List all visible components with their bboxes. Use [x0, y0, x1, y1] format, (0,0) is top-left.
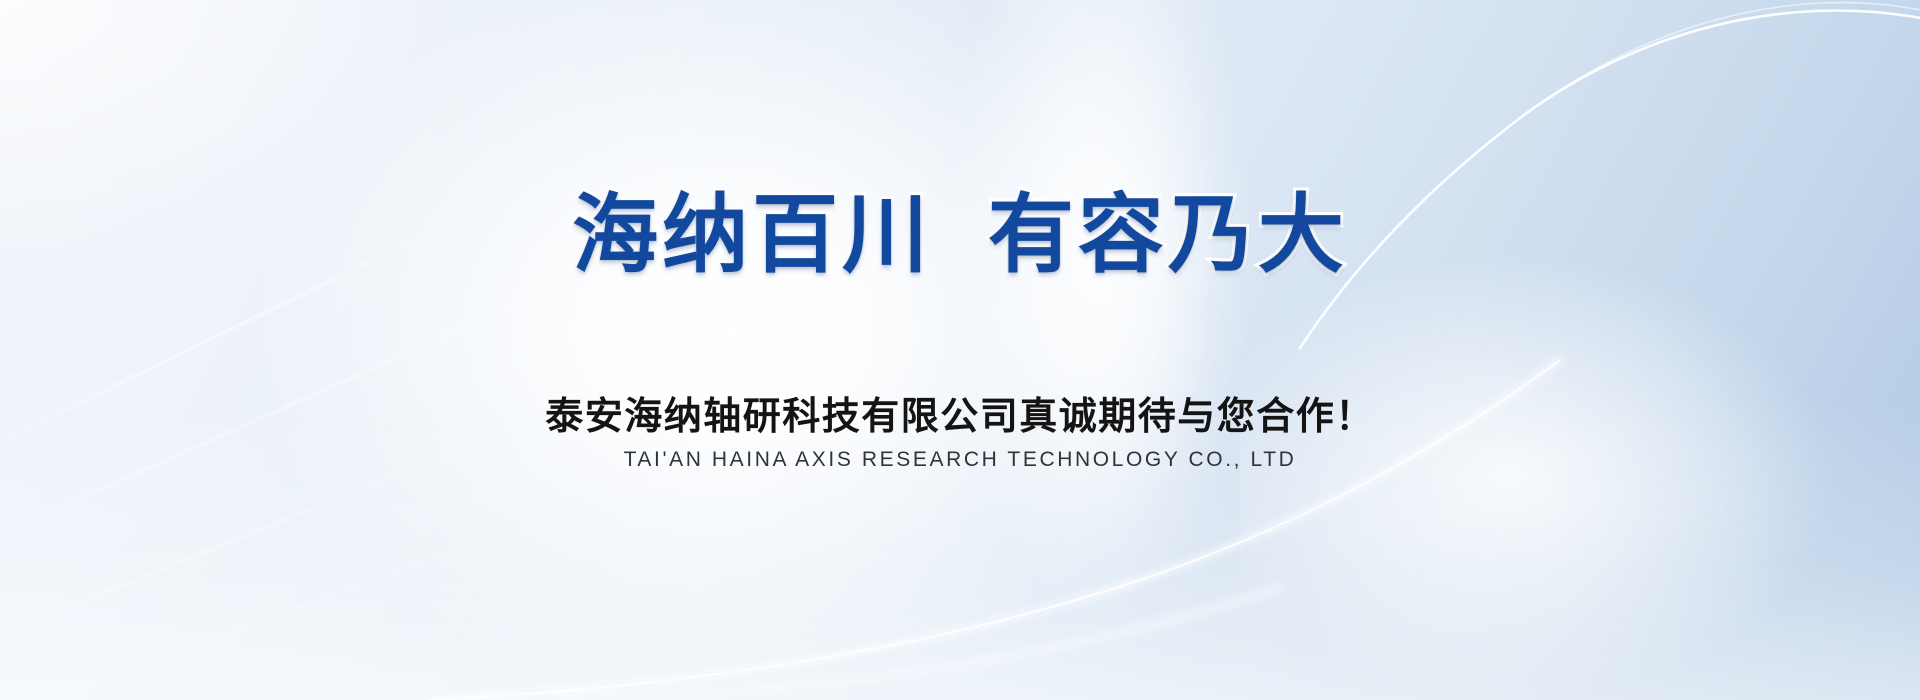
promo-banner: 海纳百川 有容乃大 泰安海纳轴研科技有限公司真诚期待与您合作！ TAI'AN H…	[0, 0, 1920, 700]
headline-backlight-glow	[820, 0, 1380, 700]
decorative-curves	[0, 0, 1920, 700]
arc-top-right-secondary	[1532, 3, 1920, 110]
light-streak-4	[40, 522, 529, 700]
swoosh-bottom-halo	[560, 588, 1280, 700]
bottom-light-wash	[0, 400, 1920, 700]
light-streak-3	[0, 440, 480, 651]
center-glow	[180, 0, 1280, 700]
banner-subtitle: 泰安海纳轴研科技有限公司真诚期待与您合作！	[0, 385, 1920, 440]
banner-headline: 海纳百川 有容乃大	[0, 190, 1920, 280]
banner-english-subtitle: TAI'AN HAINA AXIS RESEARCH TECHNOLOGY CO…	[0, 448, 1920, 472]
arc-top-right	[1300, 11, 1920, 348]
